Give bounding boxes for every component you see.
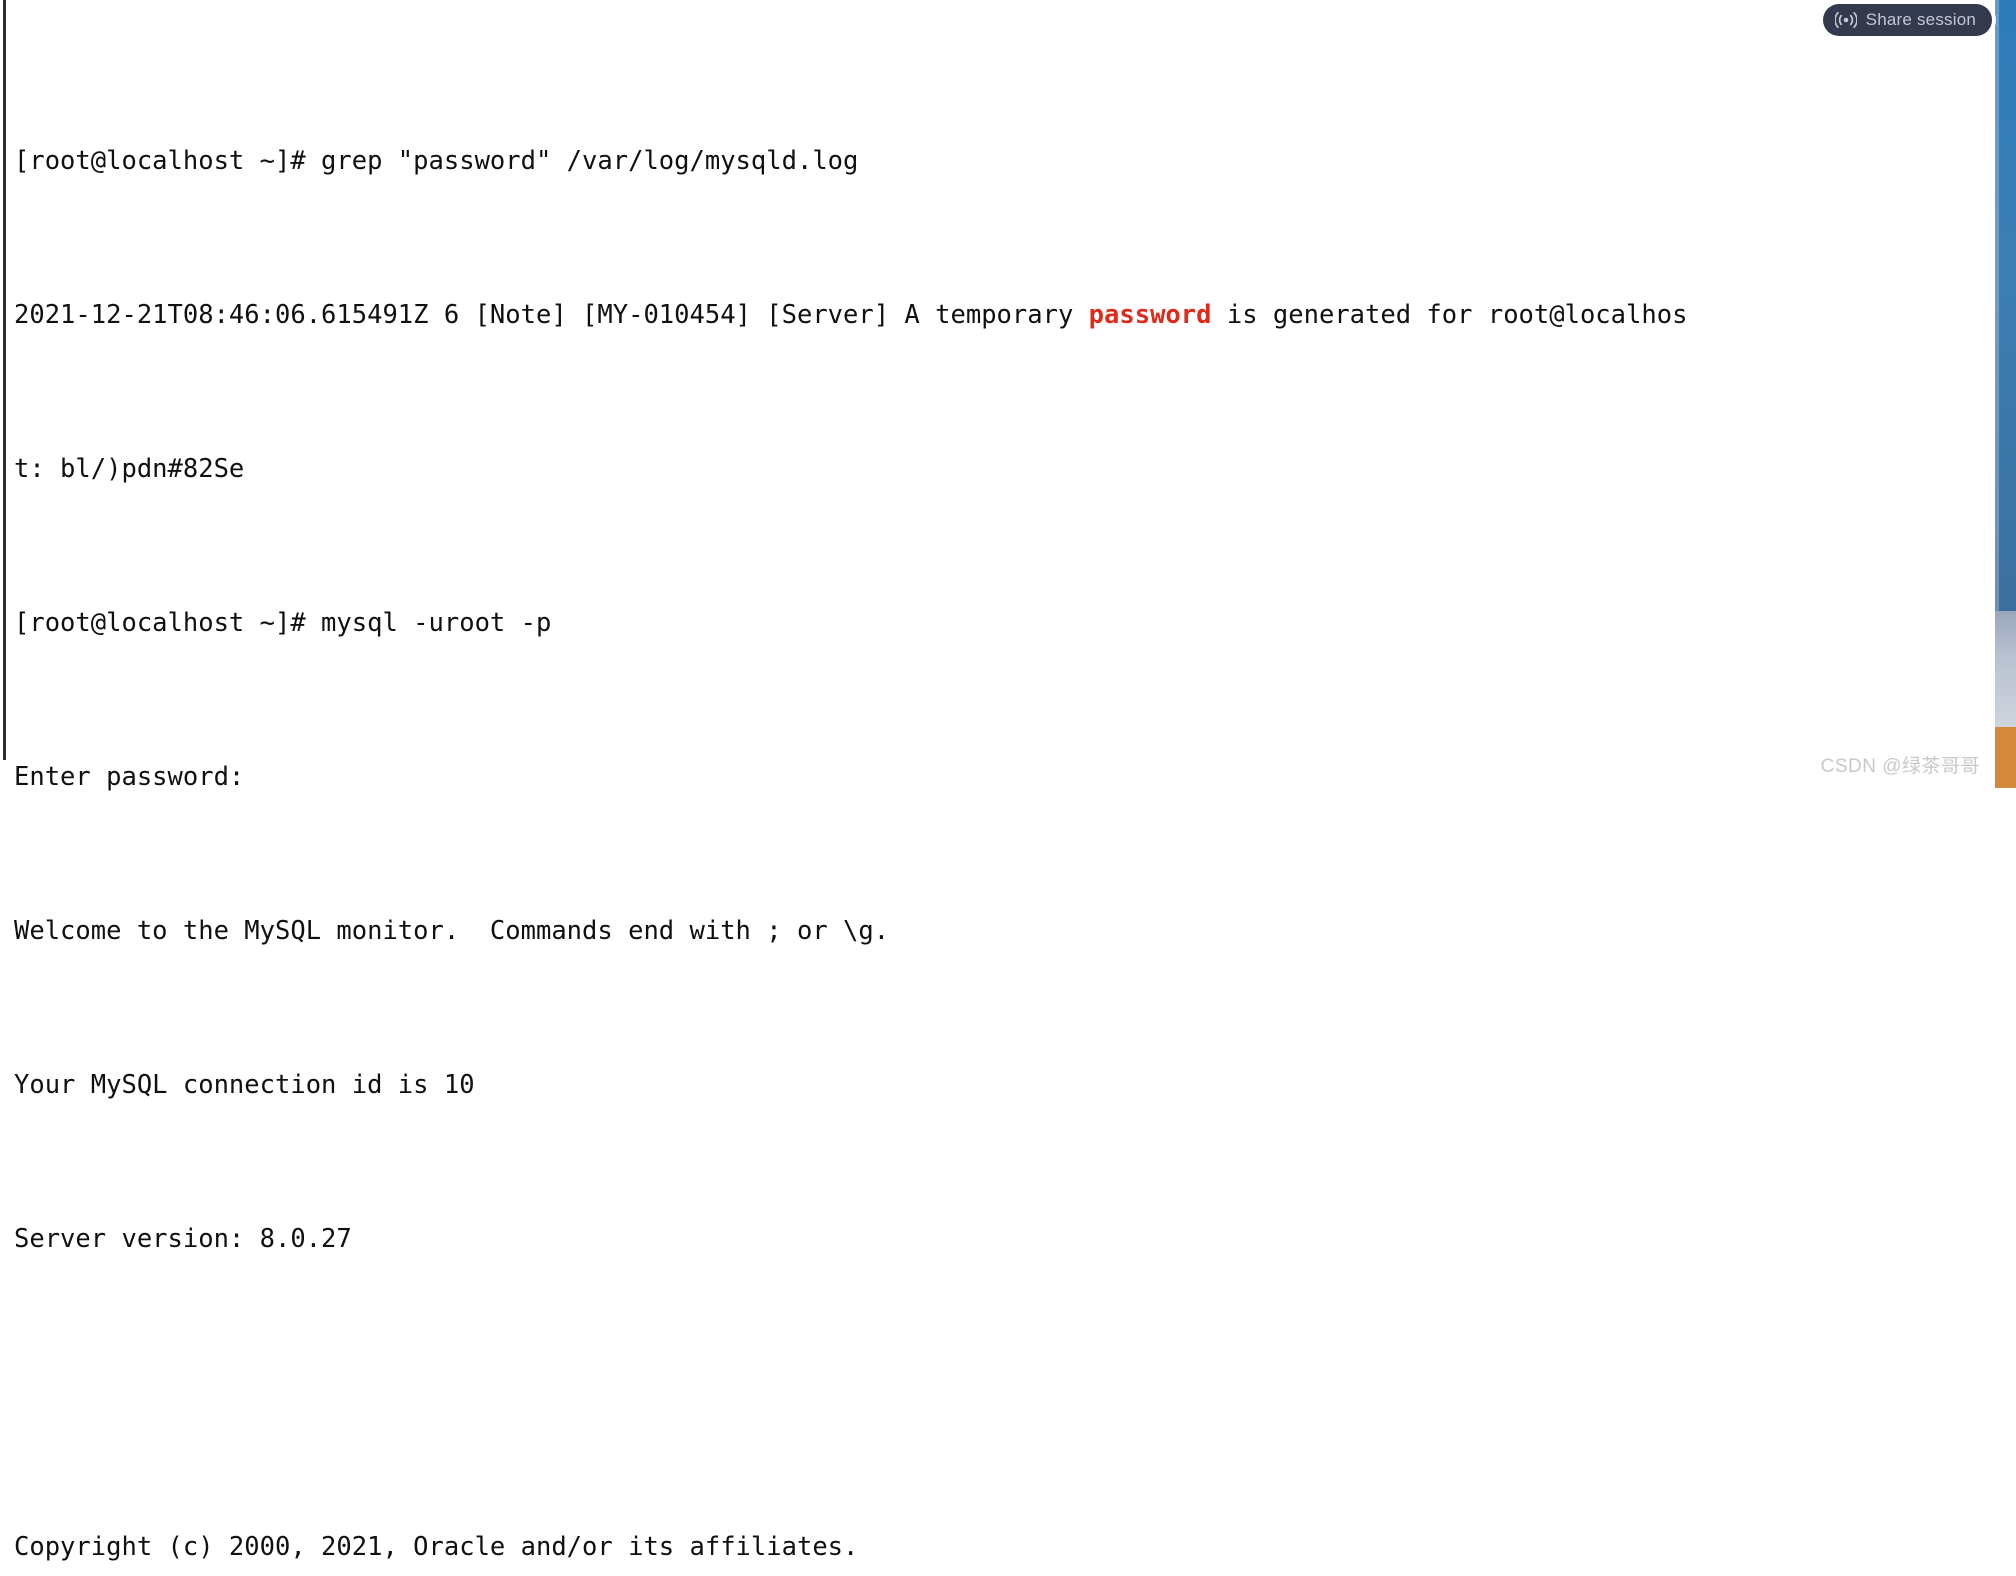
terminal-line-welcome: Welcome to the MySQL monitor. Commands e… [14,912,1984,951]
terminal-window: Share session [root@localhost ~]# grep "… [0,0,2016,788]
terminal-line-copyright: Copyright (c) 2000, 2021, Oracle and/or … [14,1528,1984,1567]
broadcast-icon [1835,11,1857,29]
csdn-watermark: CSDN @绿茶哥哥 [1821,751,1980,778]
log-entry-suffix: is generated for root@localhos [1212,300,1688,330]
browser-right-accent [1995,727,2016,788]
password-highlight: password [1089,300,1212,330]
terminal-line-connection-id: Your MySQL connection id is 10 [14,1066,1984,1105]
terminal-line-log-entry: 2021-12-21T08:46:06.615491Z 6 [Note] [MY… [14,296,1984,335]
terminal-line-server-version: Server version: 8.0.27 [14,1220,1984,1259]
share-session-label: Share session [1866,10,1976,30]
share-session-button[interactable]: Share session [1823,4,1992,36]
terminal-line-command-grep: [root@localhost ~]# grep "password" /var… [14,142,1984,181]
browser-right-panel [1995,0,2016,611]
terminal-line-command-mysql: [root@localhost ~]# mysql -uroot -p [14,604,1984,643]
page-scrollbar[interactable] [1995,611,2016,727]
log-entry-prefix: 2021-12-21T08:46:06.615491Z 6 [Note] [MY… [14,300,1089,330]
terminal-output[interactable]: [root@localhost ~]# grep "password" /var… [14,26,1984,1576]
terminal-line-blank [14,1374,1984,1413]
terminal-line-temp-password: t: bl/)pdn#82Se [14,450,1984,489]
terminal-left-border [3,0,6,760]
terminal-line-enter-password: Enter password: [14,758,1984,797]
